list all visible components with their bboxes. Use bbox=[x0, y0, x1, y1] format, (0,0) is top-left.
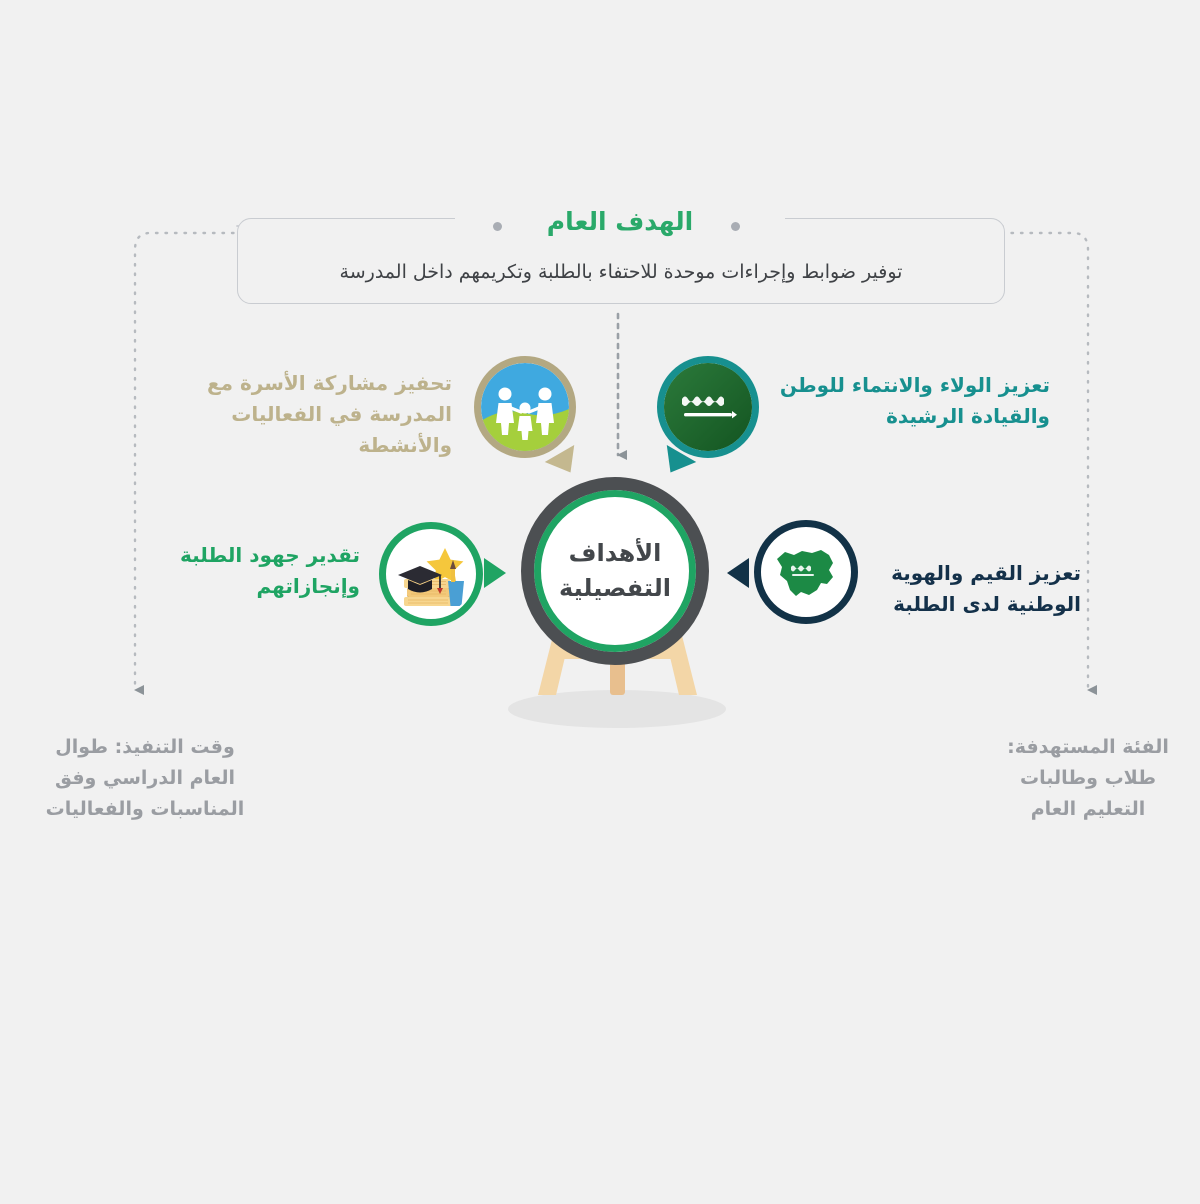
award-icon bbox=[388, 531, 474, 617]
central-text-line2: التفصيلية bbox=[559, 571, 671, 606]
note-target-audience: الفئة المستهدفة: طلاب وطالبات التعليم ال… bbox=[988, 732, 1188, 824]
family-icon bbox=[481, 363, 569, 451]
goal-title: الهدف العام bbox=[455, 207, 785, 236]
objective-circle-loyalty-belonging[interactable] bbox=[657, 356, 759, 458]
objective-circle-student-efforts[interactable] bbox=[379, 522, 483, 626]
note-implementation-time: وقت التنفيذ: طوال العام الدراسي وفق المن… bbox=[45, 732, 245, 824]
pointer-student-efforts bbox=[484, 558, 506, 588]
objective-label-loyalty-belonging: تعزيز الولاء والانتماء للوطن والقيادة ال… bbox=[775, 370, 1050, 432]
goal-description: توفير ضوابط وإجراءات موحدة للاحتفاء بالط… bbox=[260, 258, 982, 287]
objective-circle-values-identity[interactable] bbox=[754, 520, 858, 624]
objective-label-values-identity: تعزيز القيم والهوية الوطنية لدى الطلبة bbox=[866, 558, 1081, 620]
central-text-line1: الأهداف bbox=[559, 536, 671, 571]
pointer-values-identity bbox=[727, 558, 749, 588]
saudi-flag-icon bbox=[664, 363, 752, 451]
central-target-circle: الأهداف التفصيلية bbox=[521, 477, 709, 665]
central-target-text: الأهداف التفصيلية bbox=[559, 536, 671, 606]
objective-label-family-participation: تحفيز مشاركة الأسرة مع المدرسة في الفعال… bbox=[182, 368, 452, 461]
objective-circle-family-participation[interactable] bbox=[474, 356, 576, 458]
infographic-canvas: الهدف العام توفير ضوابط وإجراءات موحدة ل… bbox=[0, 0, 1200, 1204]
saudi-map-icon bbox=[763, 529, 849, 615]
objective-label-student-efforts: تقدير جهود الطلبة وإنجازاتهم bbox=[150, 540, 360, 602]
